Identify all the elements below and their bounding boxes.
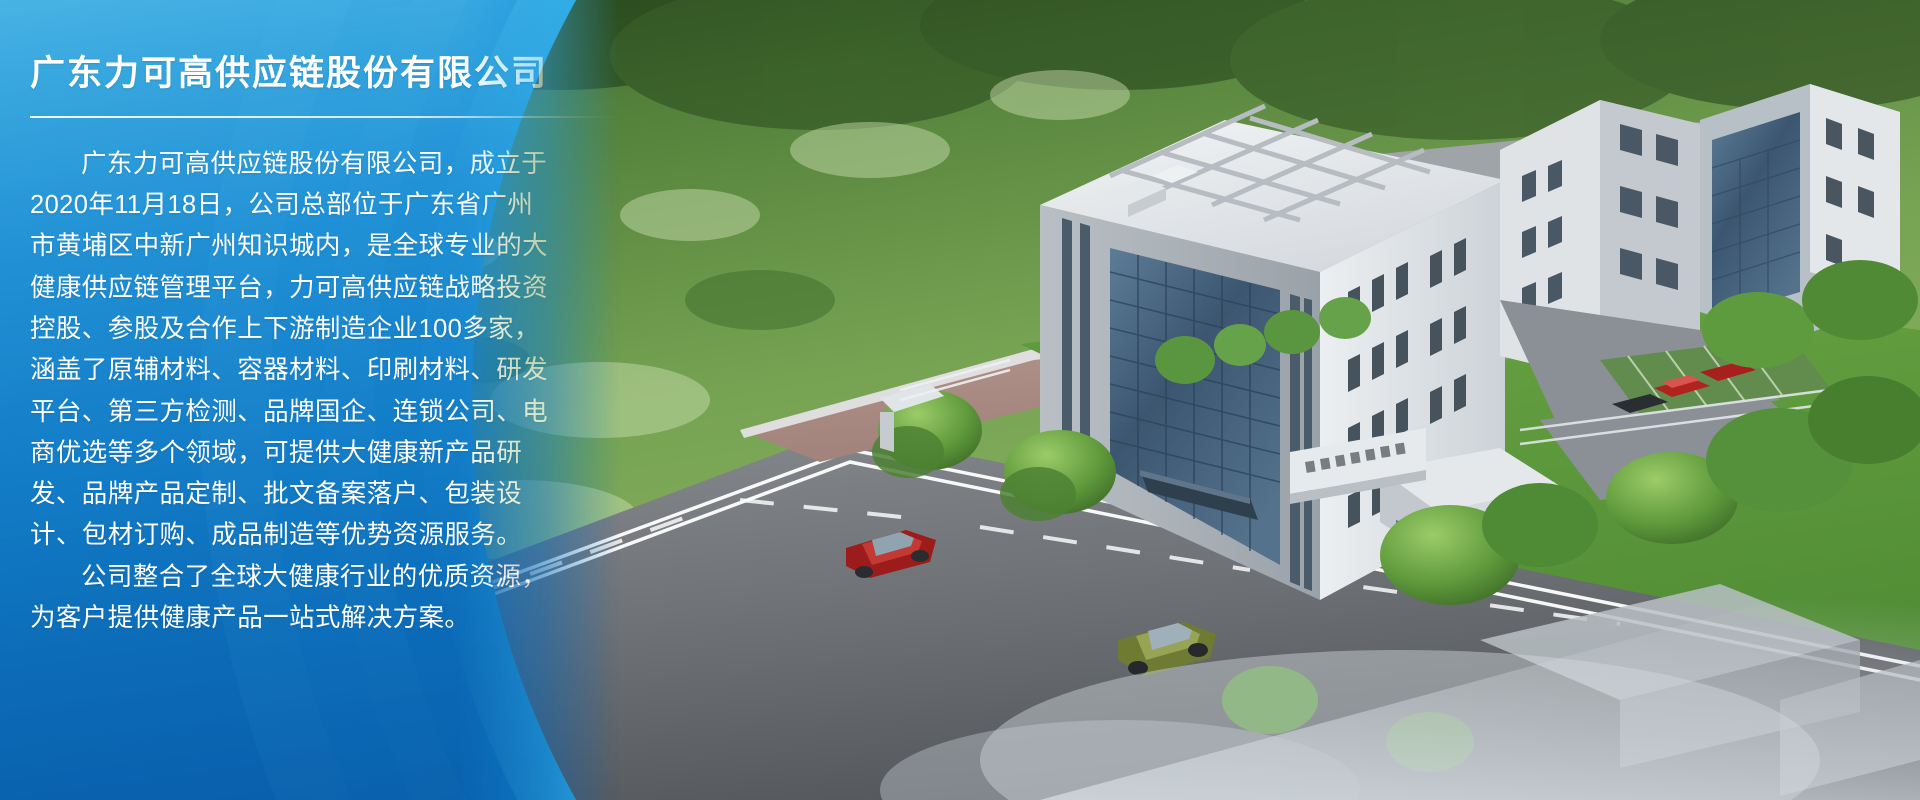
description-paragraph-2: 公司整合了全球大健康行业的优质资源，为客户提供健康产品一站式解决方案。 bbox=[30, 557, 550, 640]
company-banner: 广东力可高供应链股份有限公司 广东力可高供应链股份有限公司，成立于2020年11… bbox=[0, 0, 1920, 800]
company-description: 广东力可高供应链股份有限公司，成立于2020年11月18日，公司总部位于广东省广… bbox=[30, 144, 550, 640]
description-paragraph-1: 广东力可高供应链股份有限公司，成立于2020年11月18日，公司总部位于广东省广… bbox=[30, 144, 550, 557]
photo-circular-mask bbox=[472, 0, 1920, 800]
page-title: 广东力可高供应链股份有限公司 bbox=[30, 52, 620, 96]
title-divider bbox=[30, 116, 670, 118]
text-panel: 广东力可高供应链股份有限公司 广东力可高供应链股份有限公司，成立于2020年11… bbox=[0, 0, 620, 800]
aerial-photo bbox=[472, 0, 1920, 800]
